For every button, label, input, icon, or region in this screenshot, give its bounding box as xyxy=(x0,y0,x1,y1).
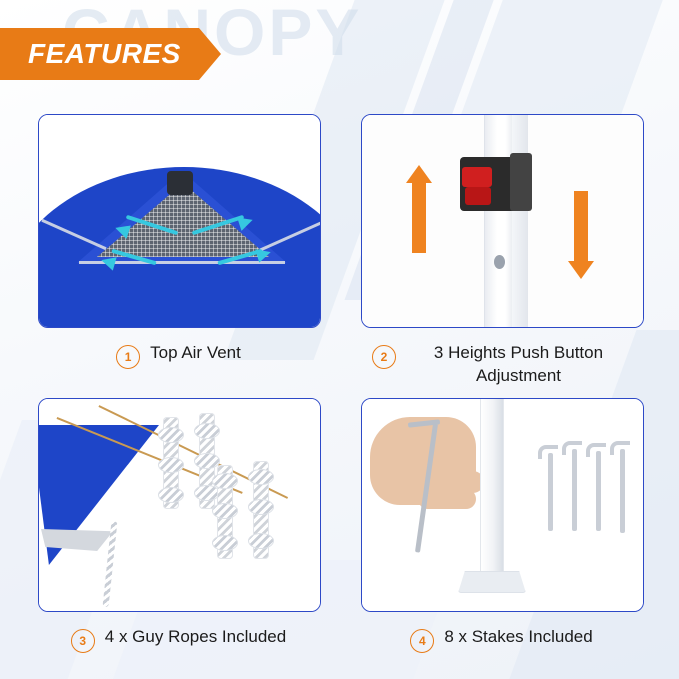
feature-caption-4: 4 8 x Stakes Included xyxy=(361,626,642,653)
feature-number-badge: 3 xyxy=(71,629,95,653)
header-arrow-shape xyxy=(199,28,221,80)
canopy-leg-shape xyxy=(480,398,504,579)
feature-image-1 xyxy=(38,114,321,328)
red-push-button-lower xyxy=(465,187,491,205)
feature-caption-2: 2 3 Heights Push Button Adjustment xyxy=(361,342,642,388)
canopy-peak-shape xyxy=(167,171,193,195)
header-banner: FEATURES xyxy=(0,28,199,80)
feature-caption-1: 1 Top Air Vent xyxy=(38,342,319,369)
feature-image-3 xyxy=(38,398,321,612)
pole-adjustment-hole xyxy=(494,255,505,269)
feature-number-badge: 2 xyxy=(372,345,396,369)
up-arrow-icon xyxy=(406,165,432,255)
down-arrow-icon xyxy=(568,191,594,281)
feature-page: CANOPY FEATURES xyxy=(0,0,679,679)
feature-grid: 1 Top Air Vent xyxy=(38,114,642,670)
red-push-button xyxy=(462,167,492,187)
feature-image-4 xyxy=(361,398,644,612)
feature-caption-text: Top Air Vent xyxy=(150,342,241,365)
features-header: FEATURES xyxy=(0,28,221,80)
feature-caption-text: 3 Heights Push Button Adjustment xyxy=(406,342,631,388)
feature-card-3: 3 4 x Guy Ropes Included xyxy=(38,398,319,670)
feature-card-1: 1 Top Air Vent xyxy=(38,114,319,386)
canopy-foot-plate xyxy=(458,571,526,593)
page-title: FEATURES xyxy=(28,38,181,70)
feature-card-2: 2 3 Heights Push Button Adjustment xyxy=(361,114,642,386)
feature-number-badge: 1 xyxy=(116,345,140,369)
canopy-inner-pole-shape xyxy=(512,114,528,328)
feature-card-4: 4 8 x Stakes Included xyxy=(361,398,642,670)
push-button-housing-side xyxy=(510,153,532,211)
feature-caption-text: 8 x Stakes Included xyxy=(444,626,592,649)
feature-caption-3: 3 4 x Guy Ropes Included xyxy=(38,626,319,653)
feature-image-2 xyxy=(361,114,644,328)
feature-caption-text: 4 x Guy Ropes Included xyxy=(105,626,286,649)
feature-number-badge: 4 xyxy=(410,629,434,653)
